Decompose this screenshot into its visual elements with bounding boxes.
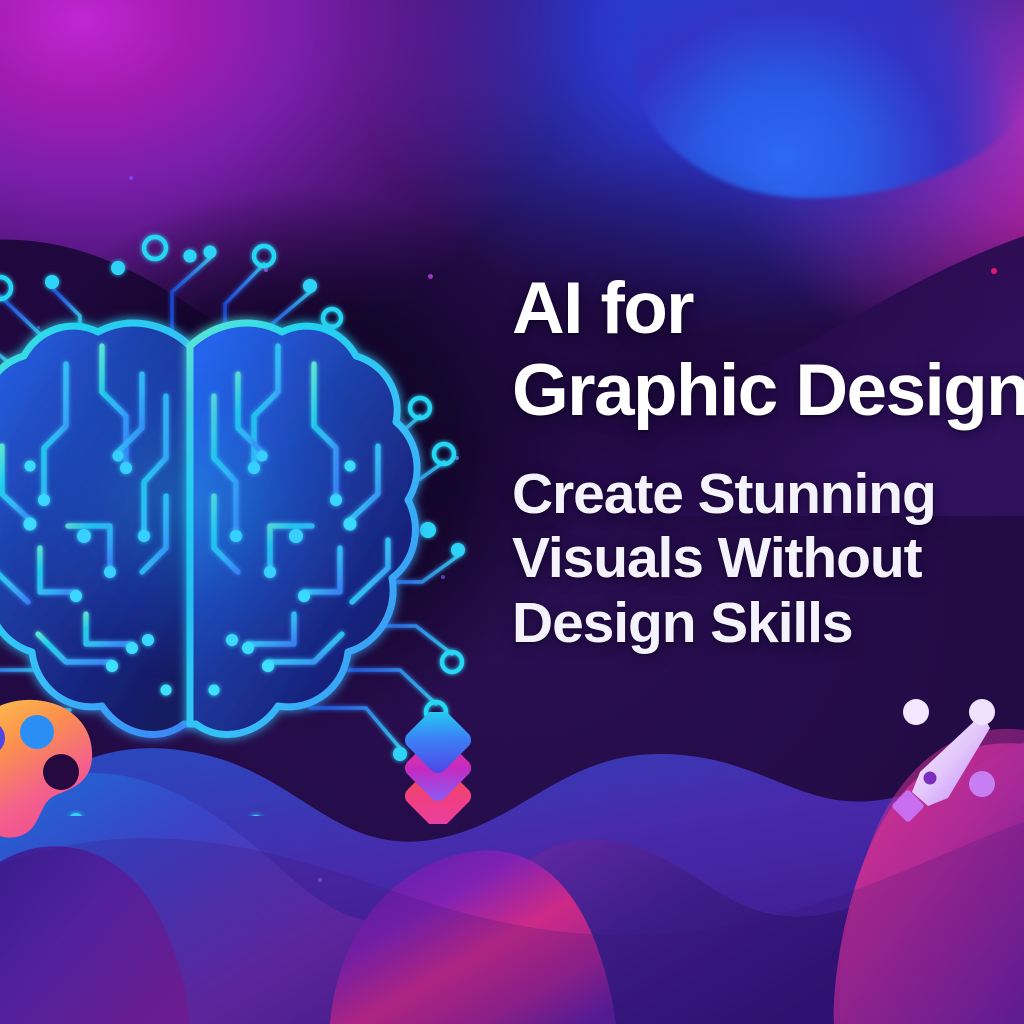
pen-tool-icon[interactable]: [884, 694, 1016, 828]
palette-paint-dot-blue: [20, 715, 54, 749]
layers-icon[interactable]: [380, 712, 496, 824]
page-title: AI for Graphic Design: [512, 268, 1024, 432]
headline-line-1: AI for: [512, 268, 1024, 350]
pen-anchor-bottom[interactable]: [969, 771, 995, 797]
subtitle-line-3: Design Skills: [512, 591, 1024, 656]
headline-line-2: Graphic Design: [512, 350, 1024, 432]
pen-anchor-left[interactable]: [903, 699, 929, 725]
page-subtitle: Create Stunning Visuals Without Design S…: [512, 462, 1024, 657]
palette-thumb-hole: [43, 754, 79, 790]
particle-dot: [129, 176, 133, 180]
pen-anchor-corner[interactable]: [969, 699, 995, 725]
subtitle-line-1: Create Stunning: [512, 462, 1024, 527]
pen-nib-hole: [924, 772, 937, 785]
ai-graphic-design-banner: AI for Graphic Design Create Stunning Vi…: [0, 0, 1024, 1024]
brain-glow: [0, 266, 440, 736]
particle-dot: [318, 878, 322, 882]
subtitle-line-2: Visuals Without: [512, 526, 1024, 591]
palette-icon[interactable]: [0, 694, 130, 844]
banner-copy: AI for Graphic Design Create Stunning Vi…: [512, 268, 1024, 656]
